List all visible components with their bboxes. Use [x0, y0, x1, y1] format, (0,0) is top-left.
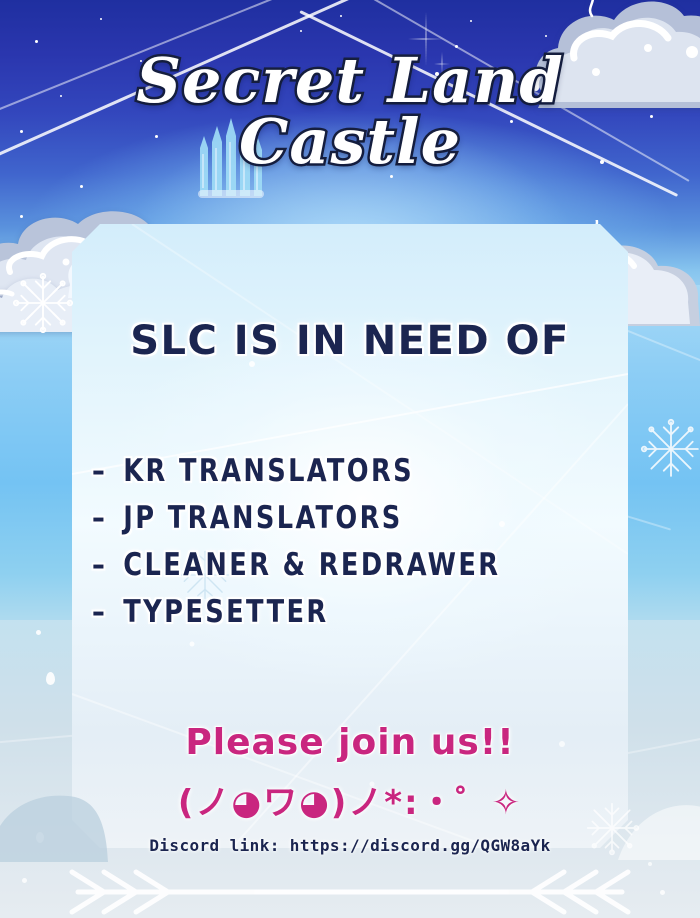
list-bullet-dash: – [92, 542, 123, 589]
list-bullet-dash: – [92, 448, 123, 495]
snow-dot [46, 672, 55, 685]
star [470, 20, 472, 22]
star [340, 15, 342, 17]
title-line-1: Secret Land [0, 52, 700, 109]
snowflake-icon-right [640, 418, 700, 480]
list-item: – JP TRANSLATORS [92, 495, 570, 542]
title-line-2: Castle [0, 113, 700, 170]
snowflake-icon-left [12, 272, 74, 334]
list-item-label: JP TRANSLATORS [123, 495, 402, 542]
page-title: Secret Land Castle [0, 52, 700, 170]
arrow-divider [0, 862, 700, 918]
list-item: – TYPESETTER [92, 589, 570, 636]
list-item: – CLEANER & REDRAWER [92, 542, 570, 589]
list-item-label: KR TRANSLATORS [123, 448, 414, 495]
star [100, 18, 102, 20]
list-item-label: TYPESETTER [123, 589, 328, 636]
headline: SLC IS IN NEED OF [0, 318, 700, 364]
list-item-label: CLEANER & REDRAWER [123, 542, 500, 589]
needs-list: – KR TRANSLATORS – JP TRANSLATORS – CLEA… [92, 448, 612, 636]
star [35, 40, 38, 43]
call-to-action-text: Please join us!! [0, 722, 700, 763]
list-item: – KR TRANSLATORS [92, 448, 570, 495]
list-bullet-dash: – [92, 589, 123, 636]
poster-root: Secret Land Castle SLC IS IN NEED OF – K… [0, 0, 700, 918]
star [300, 30, 302, 32]
list-bullet-dash: – [92, 495, 123, 542]
snow-dot [36, 630, 41, 635]
snow-mound-right [560, 790, 700, 860]
snow-mound-left [0, 782, 170, 862]
